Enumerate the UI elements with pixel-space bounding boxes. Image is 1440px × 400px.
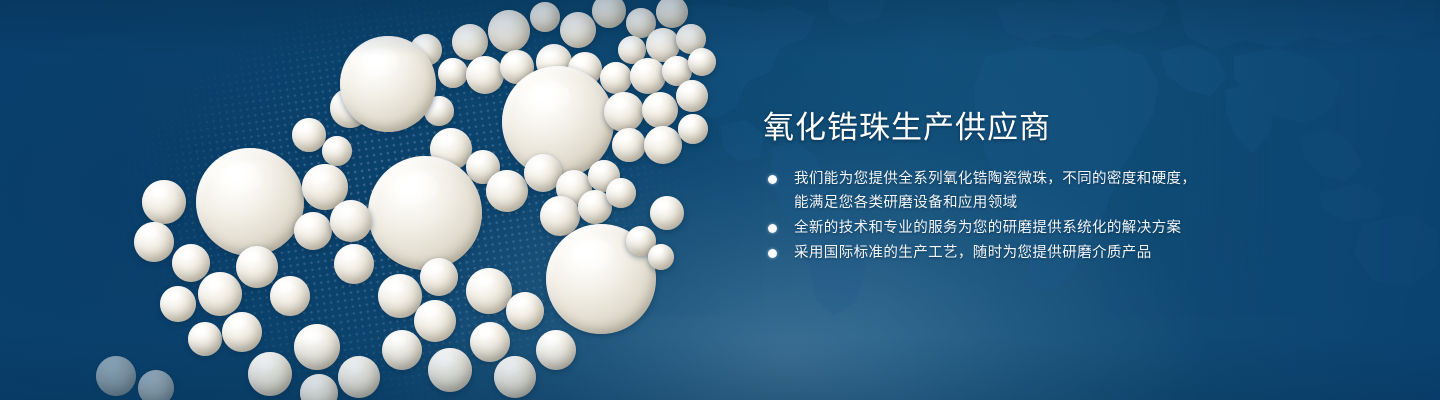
bullet-dot-icon xyxy=(768,224,777,233)
bullet-text: 采用国际标准的生产工艺，随时为您提供研磨介质产品 xyxy=(794,241,1383,265)
bullet-line-2: 能满足您各类研磨设备和应用领域 xyxy=(794,191,1383,215)
feature-bullet-list: 我们能为您提供全系列氧化锆陶瓷微珠，不同的密度和硬度， 能满足您各类研磨设备和应… xyxy=(763,167,1383,265)
bullet-line-1: 我们能为您提供全系列氧化锆陶瓷微珠，不同的密度和硬度， xyxy=(794,171,1196,187)
bullet-line-1: 全新的技术和专业的服务为您的研磨提供系统化的解决方案 xyxy=(794,220,1181,236)
bullet-line-1: 采用国际标准的生产工艺，随时为您提供研磨介质产品 xyxy=(794,245,1152,261)
zirconia-ceramic-beads-photo xyxy=(0,0,760,400)
list-item: 我们能为您提供全系列氧化锆陶瓷微珠，不同的密度和硬度， 能满足您各类研磨设备和应… xyxy=(763,167,1383,215)
banner-copy: 氧化锆珠生产供应商 我们能为您提供全系列氧化锆陶瓷微珠，不同的密度和硬度， 能满… xyxy=(763,108,1383,266)
page-title: 氧化锆珠生产供应商 xyxy=(763,108,1383,148)
bullet-dot-icon xyxy=(768,175,777,184)
list-item: 采用国际标准的生产工艺，随时为您提供研磨介质产品 xyxy=(763,241,1383,265)
hero-banner: 氧化锆珠生产供应商 我们能为您提供全系列氧化锆陶瓷微珠，不同的密度和硬度， 能满… xyxy=(0,0,1440,400)
bullet-text: 全新的技术和专业的服务为您的研磨提供系统化的解决方案 xyxy=(794,216,1383,240)
halftone-dot-pattern xyxy=(75,0,774,400)
bullet-dot-icon xyxy=(768,249,777,258)
bullet-text: 我们能为您提供全系列氧化锆陶瓷微珠，不同的密度和硬度， 能满足您各类研磨设备和应… xyxy=(794,167,1383,215)
list-item: 全新的技术和专业的服务为您的研磨提供系统化的解决方案 xyxy=(763,216,1383,240)
